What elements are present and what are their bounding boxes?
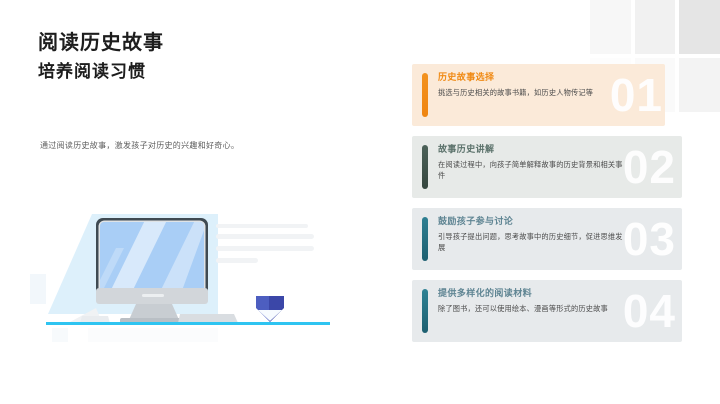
card-description: 引导孩子提出问题，思考故事中的历史细节，促进思维发展 — [438, 231, 624, 253]
card-accent-bar — [422, 289, 428, 333]
lead-paragraph: 通过阅读历史故事，激发孩子对历史的兴趣和好奇心。 — [40, 140, 320, 153]
title-block: 阅读历史故事 培养阅读习惯 — [38, 30, 338, 84]
card-text-block: 提供多样化的阅读材料 除了图书，还可以使用绘本、漫画等形式的历史故事 — [438, 288, 624, 314]
text-line — [216, 224, 308, 228]
grid-cell — [679, 0, 720, 54]
backdrop-block-left — [30, 274, 46, 304]
card-text-block: 鼓励孩子参与讨论 引导孩子提出问题，思考故事中的历史细节，促进思维发展 — [438, 216, 624, 253]
page-title: 阅读历史故事 — [38, 30, 338, 57]
desk-shape-right — [178, 314, 238, 323]
grid-cell — [590, 0, 631, 54]
step-card-01[interactable]: 历史故事选择 挑选与历史相关的故事书籍，如历史人物传记等 01 — [412, 64, 665, 126]
step-card-02[interactable]: 故事历史讲解 在阅读过程中，向孩子简单解释故事的历史背景和相关事件 02 — [412, 136, 682, 198]
card-title: 鼓励孩子参与讨论 — [438, 216, 624, 228]
text-line — [216, 246, 314, 251]
card-number-watermark: 02 — [623, 144, 676, 190]
card-number-watermark: 04 — [623, 288, 676, 334]
card-accent-bar — [422, 217, 428, 261]
envelope-icon — [256, 296, 284, 323]
card-number-watermark: 03 — [623, 216, 676, 262]
card-description: 挑选与历史相关的故事书籍，如历史人物传记等 — [438, 87, 624, 98]
ground-block-b — [88, 328, 218, 342]
card-title: 提供多样化的阅读材料 — [438, 288, 624, 300]
grid-cell — [635, 0, 676, 54]
steps-card-list: 历史故事选择 挑选与历史相关的故事书籍，如历史人物传记等 01 故事历史讲解 在… — [412, 64, 682, 352]
desk-shape-mid — [80, 316, 110, 323]
card-accent-bar — [422, 73, 428, 117]
card-title: 故事历史讲解 — [438, 144, 624, 156]
card-description: 除了图书，还可以使用绘本、漫画等形式的历史故事 — [438, 303, 624, 314]
step-card-03[interactable]: 鼓励孩子参与讨论 引导孩子提出问题，思考故事中的历史细节，促进思维发展 03 — [412, 208, 682, 270]
ground-block-a — [52, 328, 68, 342]
card-number-watermark: 01 — [610, 72, 663, 118]
ground-line — [46, 322, 330, 325]
grid-cell — [679, 58, 720, 112]
monitor-logo-bar — [142, 294, 164, 297]
text-line — [216, 234, 314, 239]
slide-canvas: 阅读历史故事 培养阅读习惯 通过阅读历史故事，激发孩子对历史的兴趣和好奇心。 — [0, 0, 720, 404]
card-title: 历史故事选择 — [438, 72, 624, 84]
card-text-block: 历史故事选择 挑选与历史相关的故事书籍，如历史人物传记等 — [438, 72, 624, 98]
card-accent-bar — [422, 145, 428, 189]
illustration-svg — [30, 196, 330, 344]
text-line-short — [216, 258, 258, 263]
card-description: 在阅读过程中，向孩子简单解释故事的历史背景和相关事件 — [438, 159, 624, 181]
card-text-block: 故事历史讲解 在阅读过程中，向孩子简单解释故事的历史背景和相关事件 — [438, 144, 624, 181]
page-subtitle: 培养阅读习惯 — [38, 61, 338, 84]
step-card-04[interactable]: 提供多样化的阅读材料 除了图书，还可以使用绘本、漫画等形式的历史故事 04 — [412, 280, 682, 342]
desktop-monitor-illustration — [30, 196, 330, 344]
